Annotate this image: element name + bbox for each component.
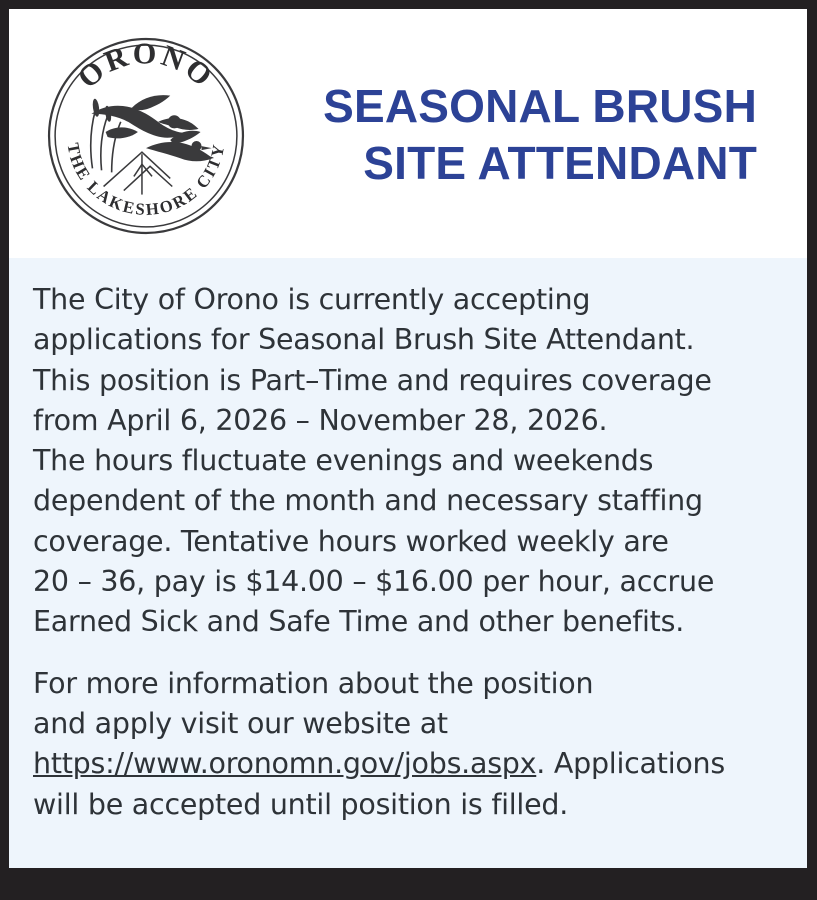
title-line-1: SEASONAL BRUSH xyxy=(247,78,757,135)
flyer-frame: ORONO THE LAKESHORE CITY xyxy=(0,0,817,900)
title-line-2: SITE ATTENDANT xyxy=(247,135,757,192)
orono-city-seal-icon: ORONO THE LAKESHORE CITY xyxy=(45,35,247,237)
page-title: SEASONAL BRUSH SITE ATTENDANT xyxy=(247,78,761,192)
flyer-header: ORONO THE LAKESHORE CITY xyxy=(9,9,807,258)
flyer-body: The City of Orono is currently accepting… xyxy=(9,258,807,868)
jobs-website-link[interactable]: https://www.oronomn.gov/jobs.aspx xyxy=(33,747,536,780)
apply-info-text-before-link: For more information about the position … xyxy=(33,667,593,740)
apply-info-paragraph: For more information about the position … xyxy=(33,664,781,825)
job-description-paragraph: The City of Orono is currently accepting… xyxy=(33,280,781,643)
flyer-card: ORONO THE LAKESHORE CITY xyxy=(9,9,807,868)
